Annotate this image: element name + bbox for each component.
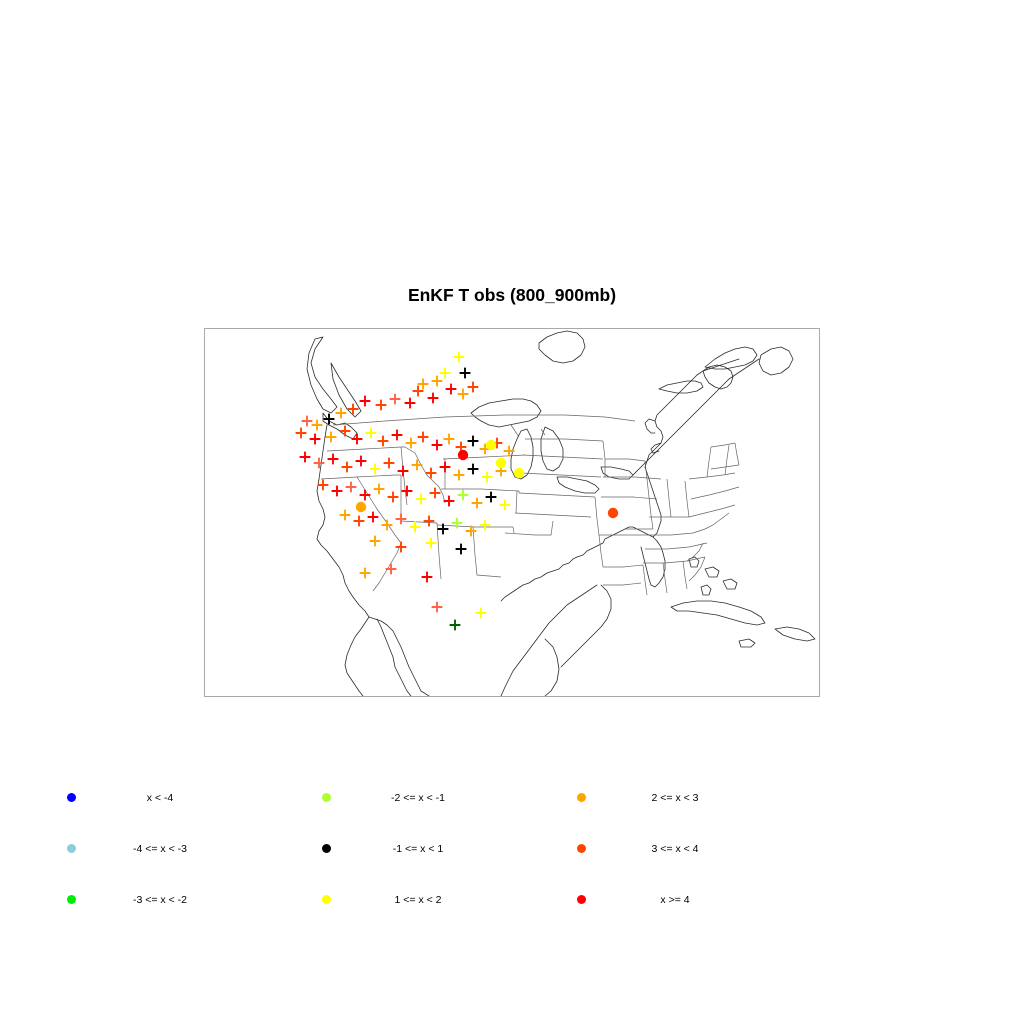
- data-point-plus: [340, 510, 351, 521]
- data-point-plus: [378, 436, 389, 447]
- data-point-plus: [444, 496, 455, 507]
- data-point-plus: [458, 490, 469, 501]
- data-point-plus: [454, 352, 465, 363]
- data-point-plus: [432, 376, 443, 387]
- legend-color-dot: [67, 895, 76, 904]
- data-point-plus: [422, 572, 433, 583]
- data-point-plus: [326, 432, 337, 443]
- data-point-plus: [412, 460, 423, 471]
- data-point-plus: [454, 470, 465, 481]
- data-point-plus: [396, 514, 407, 525]
- data-point-plus: [390, 394, 401, 405]
- data-point-plus: [302, 416, 313, 427]
- legend-color-dot: [67, 793, 76, 802]
- data-point-plus: [450, 620, 461, 631]
- data-point-plus: [402, 486, 413, 497]
- data-point-plus: [440, 462, 451, 473]
- data-point-plus: [366, 428, 377, 439]
- data-markers: [296, 352, 619, 631]
- legend-label: 2 <= x < 3: [652, 792, 699, 804]
- legend-label: x >= 4: [660, 894, 689, 906]
- data-point-plus: [370, 464, 381, 475]
- legend-label: -3 <= x < -2: [133, 894, 187, 906]
- legend-color-dot: [322, 793, 331, 802]
- data-point-plus: [456, 544, 467, 555]
- data-point-plus: [430, 488, 441, 499]
- data-point-plus: [482, 472, 493, 483]
- data-point-plus: [468, 382, 479, 393]
- data-point-plus: [340, 426, 351, 437]
- legend-label: -2 <= x < -1: [391, 792, 445, 804]
- data-point-plus: [336, 408, 347, 419]
- legend-color-dot: [577, 895, 586, 904]
- data-point-plus: [413, 386, 424, 397]
- data-point-plus: [428, 393, 439, 404]
- map-coastlines: [307, 331, 815, 696]
- data-point-plus: [314, 458, 325, 469]
- data-point-plus: [296, 428, 307, 439]
- data-point-plus: [310, 434, 321, 445]
- data-point-plus: [472, 498, 483, 509]
- data-point-plus: [444, 434, 455, 445]
- legend-label: 3 <= x < 4: [652, 843, 699, 855]
- data-point-plus: [388, 492, 399, 503]
- data-point-plus: [405, 398, 416, 409]
- data-point-plus: [342, 462, 353, 473]
- data-point-plus: [446, 384, 457, 395]
- data-point-plus: [476, 608, 487, 619]
- legend-color-dot: [322, 895, 331, 904]
- legend-color-dot: [67, 844, 76, 853]
- data-point-plus: [374, 484, 385, 495]
- legend-label: -1 <= x < 1: [393, 843, 444, 855]
- data-point-plus: [406, 438, 417, 449]
- data-point-plus: [328, 454, 339, 465]
- legend-label: 1 <= x < 2: [395, 894, 442, 906]
- data-point-plus: [312, 420, 323, 431]
- data-point-plus: [468, 436, 479, 447]
- data-point-plus: [460, 368, 471, 379]
- data-point-circle: [486, 440, 496, 450]
- data-point-plus: [376, 400, 387, 411]
- data-point-plus: [354, 516, 365, 527]
- data-point-plus: [432, 440, 443, 451]
- map-svg: [205, 329, 819, 696]
- data-point-plus: [318, 480, 329, 491]
- data-point-plus: [440, 368, 451, 379]
- data-point-plus: [426, 538, 437, 549]
- data-point-plus: [500, 500, 511, 511]
- data-point-plus: [504, 446, 515, 457]
- page-title: EnKF T obs (800_900mb): [0, 285, 1024, 306]
- data-point-circle: [496, 458, 506, 468]
- data-point-circle: [458, 450, 468, 460]
- plot-canvas: EnKF T obs (800_900mb): [0, 0, 1024, 1024]
- data-point-plus: [486, 492, 497, 503]
- map-panel: [204, 328, 820, 697]
- data-point-plus: [416, 494, 427, 505]
- data-point-plus: [370, 536, 381, 547]
- data-point-plus: [452, 518, 463, 529]
- legend-color-dot: [322, 844, 331, 853]
- data-point-plus: [352, 434, 363, 445]
- legend-color-dot: [577, 793, 586, 802]
- data-point-plus: [410, 522, 421, 533]
- data-point-plus: [432, 602, 443, 613]
- data-point-plus: [368, 512, 379, 523]
- data-point-plus: [356, 456, 367, 467]
- data-point-plus: [300, 452, 311, 463]
- legend-label: x < -4: [147, 792, 174, 804]
- data-point-plus: [392, 430, 403, 441]
- data-point-plus: [396, 542, 407, 553]
- data-point-plus: [360, 490, 371, 501]
- data-point-plus: [418, 379, 429, 390]
- legend-label: -4 <= x < -3: [133, 843, 187, 855]
- data-point-plus: [348, 404, 359, 415]
- data-point-plus: [418, 432, 429, 443]
- data-point-plus: [384, 458, 395, 469]
- data-point-plus: [468, 464, 479, 475]
- data-point-plus: [480, 520, 491, 531]
- data-point-circle: [514, 468, 524, 478]
- data-point-plus: [458, 389, 469, 400]
- data-point-plus: [360, 396, 371, 407]
- data-point-circle: [356, 502, 366, 512]
- data-point-plus: [346, 482, 357, 493]
- data-point-plus: [332, 486, 343, 497]
- data-point-plus: [386, 564, 397, 575]
- data-point-circle: [608, 508, 618, 518]
- data-point-plus: [360, 568, 371, 579]
- data-point-plus: [426, 468, 437, 479]
- data-point-plus: [424, 516, 435, 527]
- legend-color-dot: [577, 844, 586, 853]
